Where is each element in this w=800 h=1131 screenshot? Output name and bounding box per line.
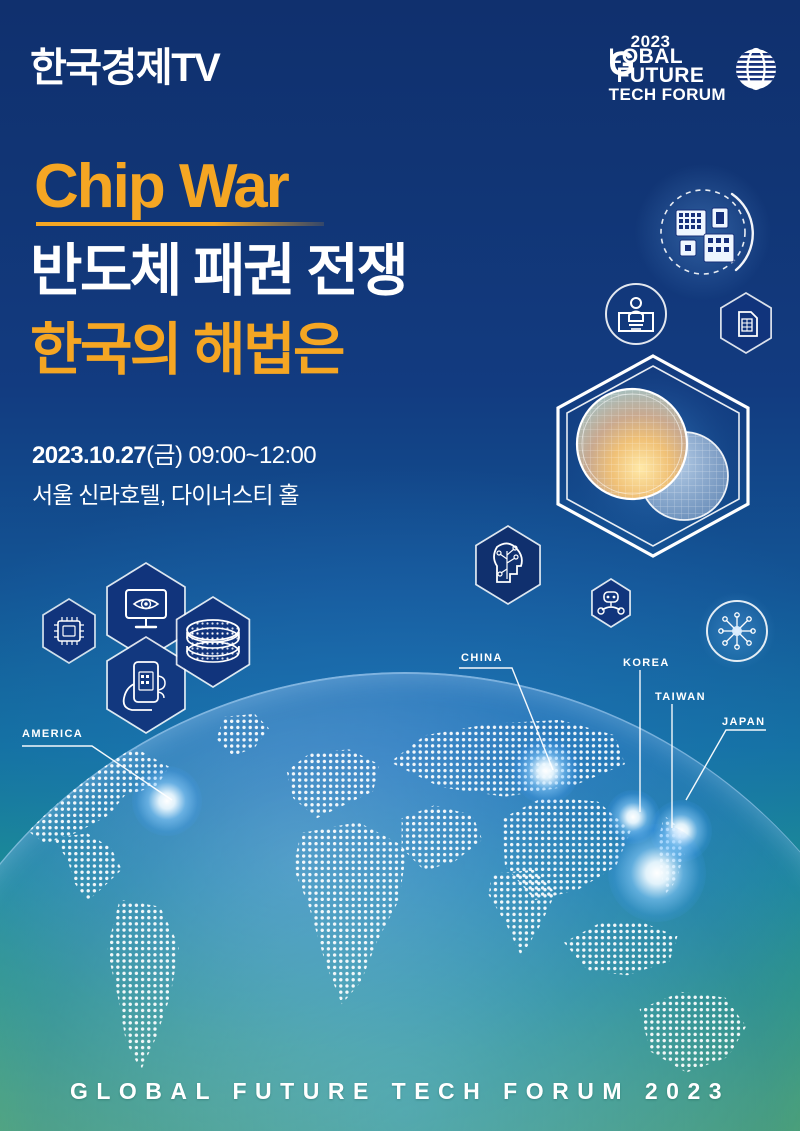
striped-globe-icon: [734, 47, 778, 91]
forum-logo-g: G: [609, 47, 635, 81]
semiconductor-dies-icon: [648, 178, 758, 286]
silicon-wafers-icon: [548, 352, 758, 560]
page-title-english: Chip War: [34, 156, 288, 218]
map-label-china: CHINA: [461, 652, 503, 664]
event-poster: AMERICA CHINA KOREA TAIWAN JAPAN 한국경제TV …: [0, 0, 800, 1131]
cpu-chip-icon: [38, 598, 100, 664]
broadcaster-logo: 한국경제TV: [30, 48, 219, 88]
event-date: 2023.10.27: [32, 442, 146, 469]
event-datetime: 2023.10.27(금) 09:00~12:00: [32, 435, 316, 470]
forum-logo-line3: TECH FORUM: [609, 87, 726, 104]
map-label-korea: KOREA: [623, 657, 670, 669]
page-title-korean-1: 반도체 패권 전쟁: [30, 243, 406, 300]
hotspot-china: [513, 738, 579, 804]
forum-logo: G 2023 LOBAL FUTURE TECH FORUM: [609, 34, 778, 103]
hotspot-america: [132, 766, 202, 836]
hotspot-japan: [608, 824, 706, 922]
event-venue: 서울 신라호텔, 다이너스티 홀: [32, 476, 299, 510]
map-label-america: AMERICA: [22, 728, 83, 740]
presenter-badge-icon: [605, 283, 667, 345]
event-time: 09:00~12:00: [188, 442, 316, 469]
robot-icon: [588, 578, 634, 628]
event-day: (금): [146, 442, 182, 469]
atom-network-icon: [706, 600, 768, 662]
map-label-japan: JAPAN: [722, 716, 765, 728]
map-label-taiwan: TAIWAN: [655, 691, 706, 703]
page-title-korean-2: 한국의 해법은: [30, 322, 343, 379]
title-underline: [36, 222, 324, 226]
ai-brain-head-icon: [470, 525, 546, 605]
footer-banner-text: GLOBAL FUTURE TECH FORUM 2023: [0, 1078, 800, 1105]
